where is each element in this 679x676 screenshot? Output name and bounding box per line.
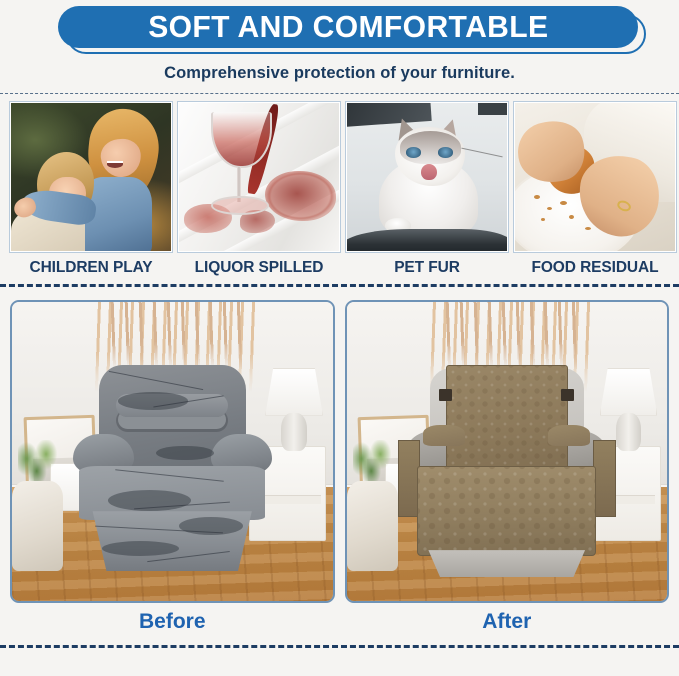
after-label: After <box>345 603 670 634</box>
use-case-photo-frame <box>177 101 341 253</box>
use-case-label: CHILDREN PLAY <box>9 253 173 284</box>
use-case-item: CHILDREN PLAY <box>9 101 173 284</box>
before-label: Before <box>10 603 335 634</box>
liquor-spilled-photo <box>179 103 339 251</box>
header-banner: SOFT AND COMFORTABLE <box>0 3 679 55</box>
use-case-label: LIQUOR SPILLED <box>177 253 341 284</box>
after-panel: After <box>345 300 670 634</box>
food-residual-photo <box>515 103 675 251</box>
use-case-label: PET FUR <box>345 253 509 284</box>
use-case-label: FOOD RESIDUAL <box>513 253 677 284</box>
use-case-item: LIQUOR SPILLED <box>177 101 341 284</box>
after-scene-image <box>345 300 670 603</box>
use-case-item: FOOD RESIDUAL <box>513 101 677 284</box>
page-subtitle: Comprehensive protection of your furnitu… <box>0 64 679 83</box>
page-title: SOFT AND COMFORTABLE <box>148 9 548 45</box>
before-scene-image <box>10 300 335 603</box>
use-case-photo-frame <box>9 101 173 253</box>
before-panel: Before <box>10 300 335 634</box>
banner-fill-shape: SOFT AND COMFORTABLE <box>58 6 638 48</box>
before-after-comparison: Before <box>0 287 679 634</box>
children-play-photo <box>11 103 171 251</box>
infographic-page: SOFT AND COMFORTABLE Comprehensive prote… <box>0 3 679 676</box>
use-case-strip: CHILDREN PLAY LIQUOR SPILLED <box>0 94 679 284</box>
use-case-photo-frame <box>345 101 509 253</box>
pet-fur-photo <box>347 103 507 251</box>
divider-bottom <box>0 645 679 648</box>
use-case-photo-frame <box>513 101 677 253</box>
divider-top <box>0 93 679 94</box>
use-case-item: PET FUR <box>345 101 509 284</box>
